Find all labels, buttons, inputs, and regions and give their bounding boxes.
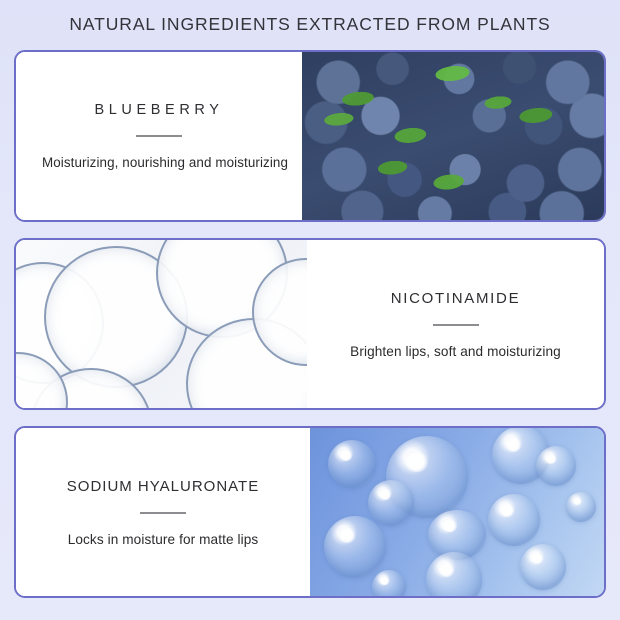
ingredient-name: SODIUM HYALURONATE [67,478,259,495]
ingredient-description: Moisturizing, nourishing and moisturizin… [15,155,315,170]
ingredient-card-nicotinamide: NICOTINAMIDE Brighten lips, soft and moi… [14,238,606,410]
bubble-shape [536,446,576,486]
bubble-shape [372,570,406,596]
ingredient-name: NICOTINAMIDE [391,290,521,307]
bubble-shape [520,544,566,590]
bubble-shape [368,480,414,526]
water-bubbles-photo [310,428,604,596]
bubble-shape [488,494,540,546]
divider [140,512,186,514]
ingredient-card-sodium-hyaluronate: SODIUM HYALURONATE Locks in moisture for… [14,426,606,598]
ingredients-infographic: NATURAL INGREDIENTS EXTRACTED FROM PLANT… [0,0,620,620]
page-title: NATURAL INGREDIENTS EXTRACTED FROM PLANT… [0,14,620,35]
ingredient-text-panel: BLUEBERRY Moisturizing, nourishing and m… [16,52,302,220]
divider [136,135,182,137]
divider [433,324,479,326]
bubble-shape [426,552,482,596]
bubbles-photo [16,240,307,408]
bubble-shape [328,440,376,488]
ingredient-image-panel [16,240,307,408]
bubble-shape [324,516,386,578]
ingredient-description: Brighten lips, soft and moisturizing [350,344,561,359]
bubble-shape [566,492,596,522]
ingredient-image-panel [302,52,604,220]
ingredient-text-panel: SODIUM HYALURONATE Locks in moisture for… [16,428,310,596]
ingredient-image-panel [310,428,604,596]
blueberries-photo [302,52,604,220]
ingredient-card-blueberry: BLUEBERRY Moisturizing, nourishing and m… [14,50,606,222]
ingredient-description: Locks in moisture for matte lips [68,532,259,547]
ingredient-name: BLUEBERRY [95,102,224,118]
ingredient-text-panel: NICOTINAMIDE Brighten lips, soft and moi… [307,240,604,408]
